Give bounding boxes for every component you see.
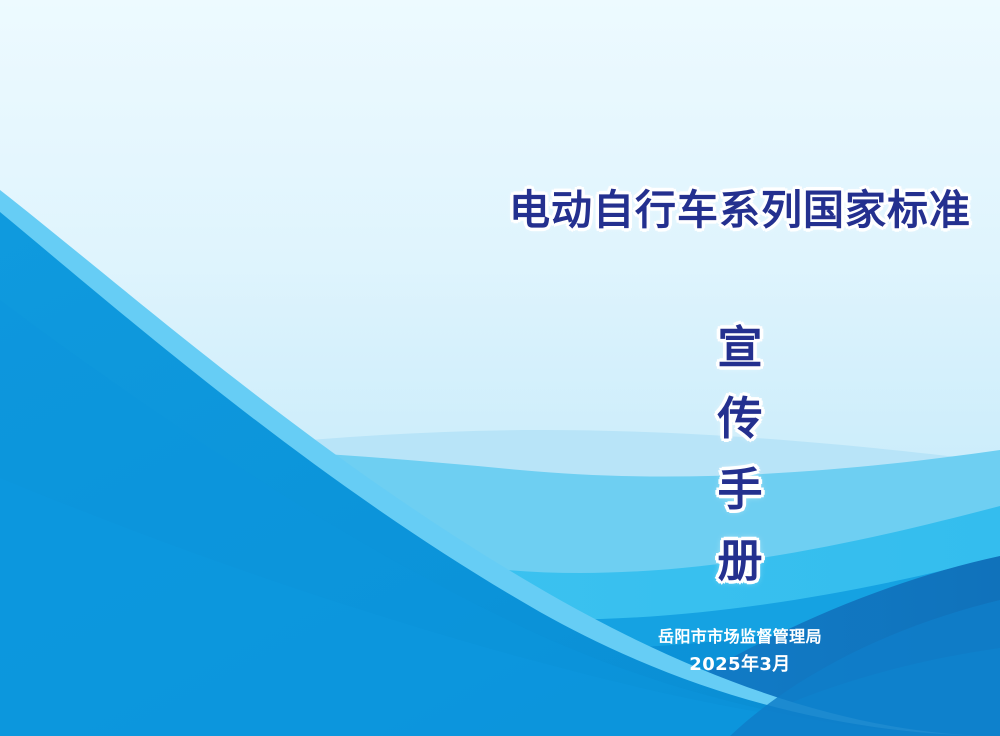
vertical-subtitle-char-3: 手 — [700, 454, 780, 525]
vertical-subtitle-char-2: 传 — [700, 383, 780, 454]
vertical-subtitle-char-1: 宣 — [700, 312, 780, 383]
publication-date: 2025年3月 — [560, 652, 920, 678]
vertical-subtitle-char-4: 册 — [700, 525, 780, 596]
cover-footer: 岳阳市市场监督管理局 2025年3月 — [560, 626, 920, 678]
brochure-cover-page: 电动自行车系列国家标准 宣 传 手 册 岳阳市市场监督管理局 2025年3月 — [0, 0, 1000, 736]
vertical-subtitle: 宣 传 手 册 — [700, 312, 780, 596]
publisher-organization: 岳阳市市场监督管理局 — [560, 626, 920, 648]
cover-content-layer: 电动自行车系列国家标准 宣 传 手 册 岳阳市市场监督管理局 2025年3月 — [0, 0, 1000, 736]
page-title: 电动自行车系列国家标准 — [500, 176, 980, 236]
